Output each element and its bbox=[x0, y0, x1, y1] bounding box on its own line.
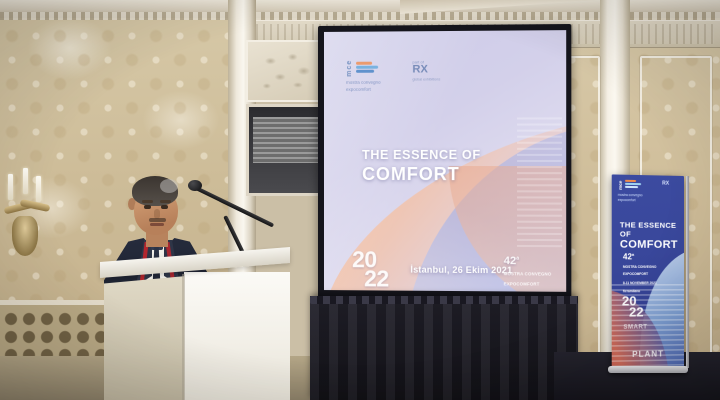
rollup-title: THE ESSENCE OF COMFORT bbox=[620, 221, 684, 252]
rollup-title-line1: THE ESSENCE OF bbox=[620, 221, 684, 239]
slide-edition-line2: EXPOCOMFORT bbox=[504, 281, 553, 288]
slide-title: THE ESSENCE OF COMFORT bbox=[362, 148, 481, 185]
eyebrow-left bbox=[142, 200, 153, 203]
mce-subtitle: mostra convegno expocomfort bbox=[346, 80, 386, 94]
sconce-body bbox=[12, 216, 38, 256]
rollup-edition-line2: EXPOCOMFORT bbox=[623, 272, 657, 277]
slide-edition-number: 42a bbox=[504, 255, 553, 267]
rx-logo-text: RX bbox=[412, 64, 440, 75]
slide-date-location: İstanbul, 26 Ekim 2021 bbox=[410, 265, 512, 276]
slide-title-line2: COMFORT bbox=[362, 164, 481, 185]
rx-logo: part of RX global exhibitions bbox=[412, 59, 440, 81]
rollup-mce-logo-text: mce bbox=[618, 181, 623, 190]
mustache bbox=[149, 218, 166, 222]
conference-photo-scene: mce mostra convegno expocomfort part of … bbox=[0, 0, 720, 400]
rollup-edition-block: 42a MOSTRA CONVEGNO EXPOCOMFORT 8-11 NOV… bbox=[623, 252, 657, 294]
microphone-icon bbox=[188, 180, 202, 191]
slide-edition-suffix: a bbox=[516, 255, 519, 261]
candle-icon bbox=[36, 176, 41, 202]
slide-logo-row: mce mostra convegno expocomfort part of … bbox=[346, 59, 440, 93]
rollup-banner-base bbox=[608, 366, 688, 373]
rollup-edition-suffix: a bbox=[632, 252, 634, 257]
eyebrow-right bbox=[160, 200, 171, 203]
eye-right bbox=[161, 205, 168, 209]
rollup-edition-line1: MOSTRA CONVEGNO bbox=[623, 265, 657, 270]
rollup-banner-face: SMART PLANT mce mostra convegno expocomf… bbox=[612, 174, 684, 369]
projection-screen: mce mostra convegno expocomfort part of … bbox=[318, 24, 571, 300]
rollup-banner-pole bbox=[686, 176, 689, 368]
rollup-mce-wave-icon bbox=[625, 180, 641, 191]
mce-logo: mce mostra convegno expocomfort bbox=[346, 60, 386, 94]
rollup-year-bottom: 22 bbox=[629, 307, 644, 318]
rollup-edition-number: 42a bbox=[623, 252, 657, 262]
mce-logo-text: mce bbox=[346, 60, 353, 77]
slide-edition-line1: MOSTRA CONVEGNO bbox=[504, 271, 553, 277]
screen-surface: mce mostra convegno expocomfort part of … bbox=[324, 30, 566, 292]
floral-relief-motif bbox=[252, 46, 326, 96]
rollup-wordcloud-main: PLANT bbox=[632, 349, 664, 359]
stage-drape bbox=[310, 296, 578, 400]
podium-corner-edge bbox=[182, 274, 185, 400]
slide-year-bottom: 22 bbox=[364, 269, 389, 288]
sconce-arm bbox=[20, 199, 51, 212]
candle-icon bbox=[8, 174, 13, 200]
rollup-year: 20 22 bbox=[622, 296, 644, 318]
hair-highlight bbox=[160, 179, 178, 193]
rollup-banner: SMART PLANT mce mostra convegno expocomf… bbox=[612, 174, 684, 369]
candle-icon bbox=[23, 168, 28, 194]
rollup-rx-logo-text: RX bbox=[662, 181, 669, 187]
rx-subtitle: global exhibitions bbox=[412, 77, 440, 81]
podium bbox=[100, 262, 290, 400]
drape-valance bbox=[310, 296, 578, 304]
rollup-title-line2: COMFORT bbox=[620, 239, 684, 252]
mouth bbox=[150, 223, 164, 226]
wall-sconce bbox=[2, 168, 54, 264]
mce-wave-icon bbox=[356, 60, 378, 76]
slide-title-line1: THE ESSENCE OF bbox=[362, 148, 481, 163]
rollup-logo-row: mce mostra convegno expocomfort RX bbox=[618, 180, 669, 204]
slide-wordcloud bbox=[517, 117, 562, 249]
slide-year: 20 22 bbox=[352, 250, 389, 288]
slide-edition-block: 42a MOSTRA CONVEGNO EXPOCOMFORT 8-11 NOV… bbox=[504, 255, 553, 292]
rollup-mce-logo: mce mostra convegno expocomfort bbox=[618, 180, 648, 203]
eye-left bbox=[144, 205, 151, 209]
rollup-edition-line3: 8-11 NOVEMBER 2021 bbox=[623, 281, 657, 286]
rollup-wordcloud-secondary: SMART bbox=[623, 324, 647, 330]
podium-front-panel bbox=[184, 272, 290, 400]
podium-side-panel bbox=[104, 276, 186, 400]
rollup-mce-subtitle: mostra convegno expocomfort bbox=[618, 193, 648, 203]
